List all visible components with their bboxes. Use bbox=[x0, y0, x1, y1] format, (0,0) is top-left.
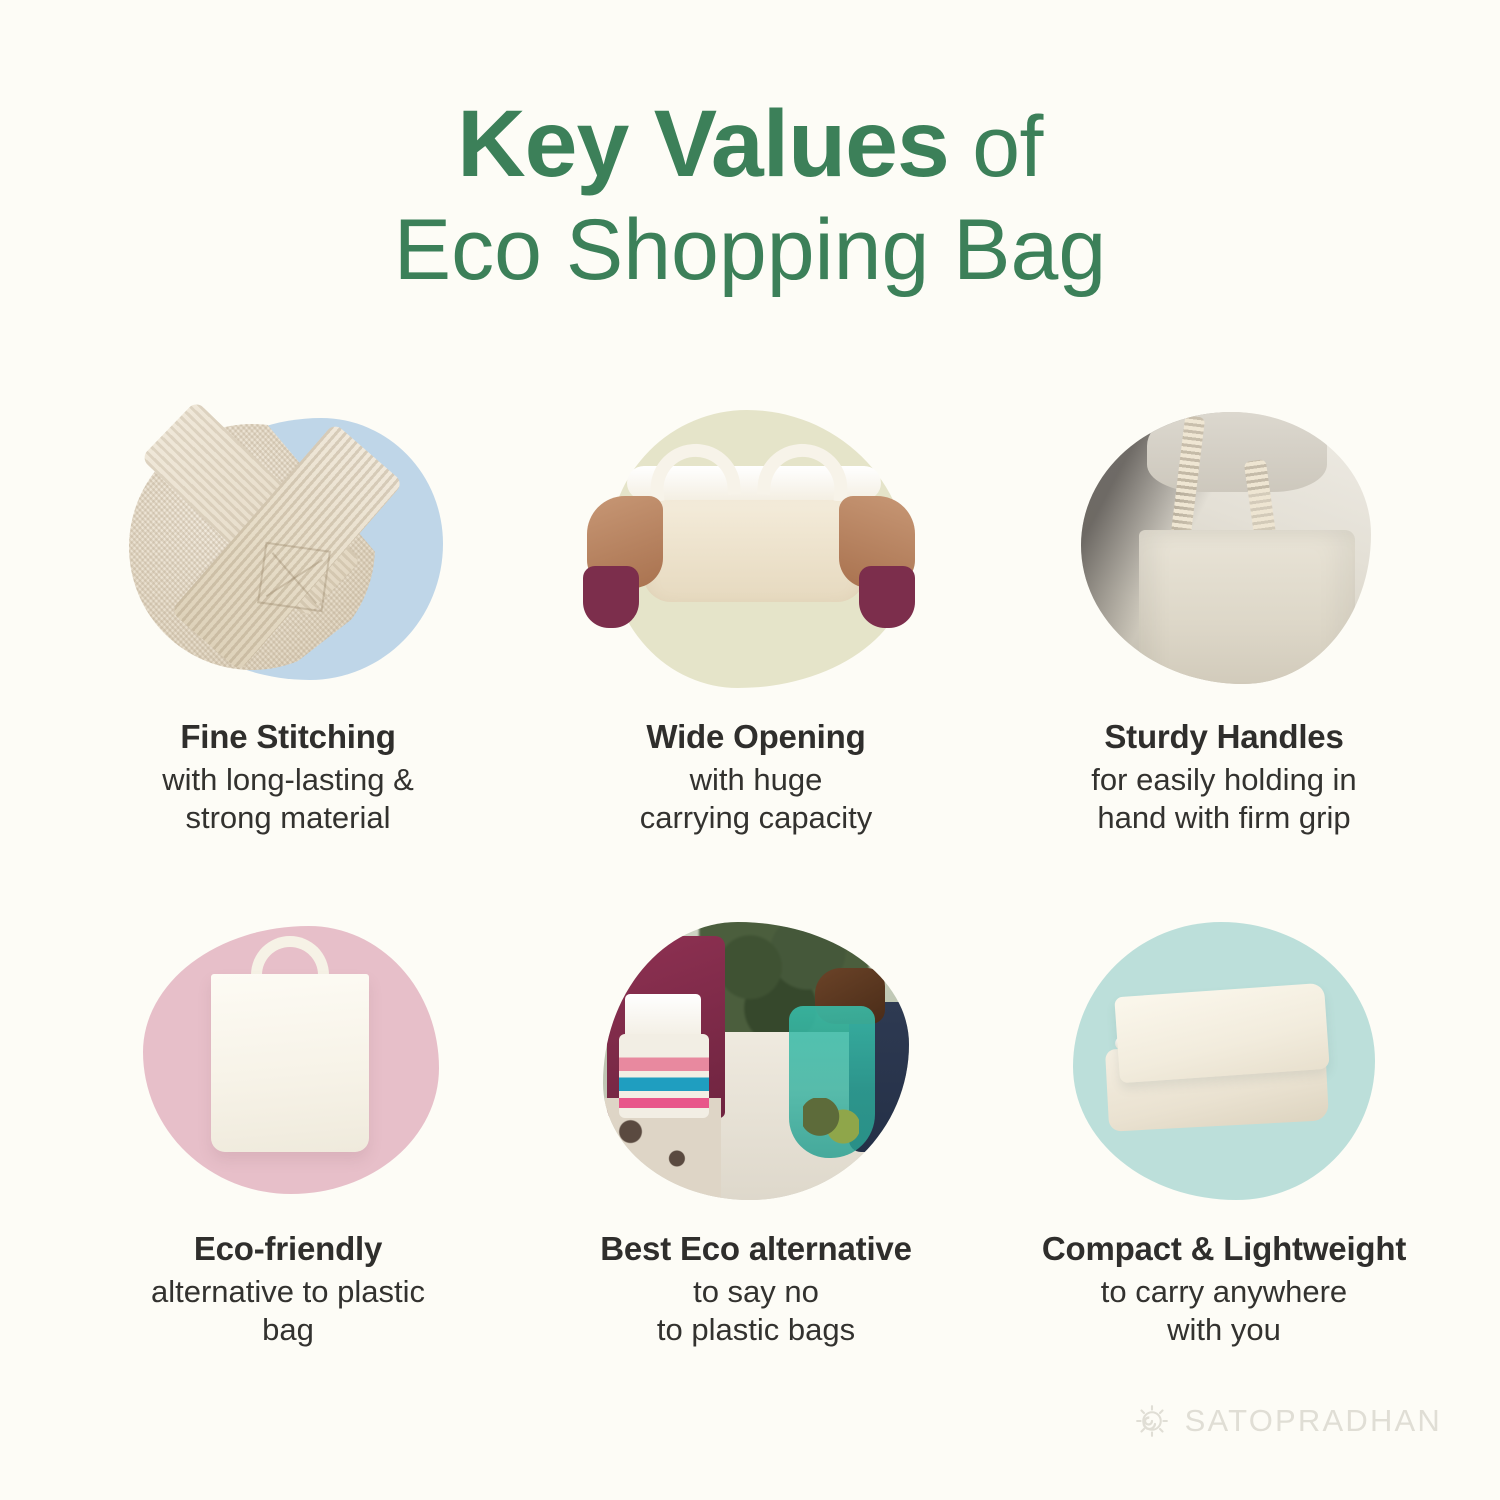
caption-title: Fine Stitching bbox=[58, 718, 518, 757]
title-bold-part: Key Values bbox=[457, 91, 949, 197]
sun-spiral-icon bbox=[1131, 1400, 1173, 1442]
caption-subtitle: alternative to plastic bag bbox=[58, 1273, 518, 1350]
caption-title: Eco-friendly bbox=[58, 1230, 518, 1269]
caption-best-eco-alternative: Best Eco alternative to say no to plasti… bbox=[526, 1230, 986, 1350]
cross-stitch-detail bbox=[257, 542, 331, 613]
blob-photo-mask-street bbox=[603, 922, 909, 1200]
canvas-tote-bag bbox=[211, 974, 369, 1152]
caption-subtitle: for easily holding in hand with firm gri… bbox=[994, 761, 1454, 838]
feature-card-fine-stitching: Fine Stitching with long-lasting & stron… bbox=[58, 400, 518, 912]
caption-compact-lightweight: Compact & Lightweight to carry anywhere … bbox=[994, 1230, 1454, 1350]
feature-image-best-eco-alternative bbox=[591, 912, 921, 1212]
caption-subtitle: with long-lasting & strong material bbox=[58, 761, 518, 838]
caption-title: Sturdy Handles bbox=[994, 718, 1454, 757]
crochet-shoulder-bag bbox=[619, 1034, 709, 1118]
feature-grid: Fine Stitching with long-lasting & stron… bbox=[58, 400, 1442, 1424]
title-light-part: of bbox=[949, 99, 1043, 195]
caption-subtitle: to carry anywhere with you bbox=[994, 1273, 1454, 1350]
produce-inside-bag bbox=[803, 1098, 859, 1144]
blob-photo-mask-handles bbox=[1081, 412, 1371, 684]
feature-image-fine-stitching bbox=[123, 400, 453, 700]
feature-image-eco-friendly bbox=[123, 912, 453, 1212]
caption-wide-opening: Wide Opening with huge carrying capacity bbox=[526, 718, 986, 838]
feature-card-sturdy-handles: Sturdy Handles for easily holding in han… bbox=[994, 400, 1454, 912]
title-line-2: Eco Shopping Bag bbox=[0, 207, 1500, 295]
caption-fine-stitching: Fine Stitching with long-lasting & stron… bbox=[58, 718, 518, 838]
caption-title: Compact & Lightweight bbox=[994, 1230, 1454, 1269]
feature-card-wide-opening: Wide Opening with huge carrying capacity bbox=[526, 400, 986, 912]
sleeve-left bbox=[583, 566, 639, 628]
feature-card-compact-lightweight: Compact & Lightweight to carry anywhere … bbox=[994, 912, 1454, 1424]
caption-title: Best Eco alternative bbox=[526, 1230, 986, 1269]
feature-image-sturdy-handles bbox=[1059, 400, 1389, 700]
feature-card-best-eco-alternative: Best Eco alternative to say no to plasti… bbox=[526, 912, 986, 1424]
caption-sturdy-handles: Sturdy Handles for easily holding in han… bbox=[994, 718, 1454, 838]
brand-name: SATOPRADHAN bbox=[1185, 1403, 1442, 1439]
sleeve-right bbox=[859, 566, 915, 628]
infographic-poster: Key Values of Eco Shopping Bag Fine Stit… bbox=[0, 0, 1500, 1500]
brand-watermark: SATOPRADHAN bbox=[1131, 1400, 1442, 1442]
caption-title: Wide Opening bbox=[526, 718, 986, 757]
bag-body bbox=[1139, 530, 1355, 684]
folded-fabric-top bbox=[1114, 983, 1329, 1083]
caption-subtitle: to say no to plastic bags bbox=[526, 1273, 986, 1350]
page-title: Key Values of Eco Shopping Bag bbox=[0, 96, 1500, 295]
shoulder-shape bbox=[1147, 412, 1327, 492]
title-line-1: Key Values of bbox=[0, 96, 1500, 193]
feature-card-eco-friendly: Eco-friendly alternative to plastic bag bbox=[58, 912, 518, 1424]
caption-eco-friendly: Eco-friendly alternative to plastic bag bbox=[58, 1230, 518, 1350]
caption-subtitle: with huge carrying capacity bbox=[526, 761, 986, 838]
feature-image-wide-opening bbox=[591, 400, 921, 700]
feature-image-compact-lightweight bbox=[1059, 912, 1389, 1212]
